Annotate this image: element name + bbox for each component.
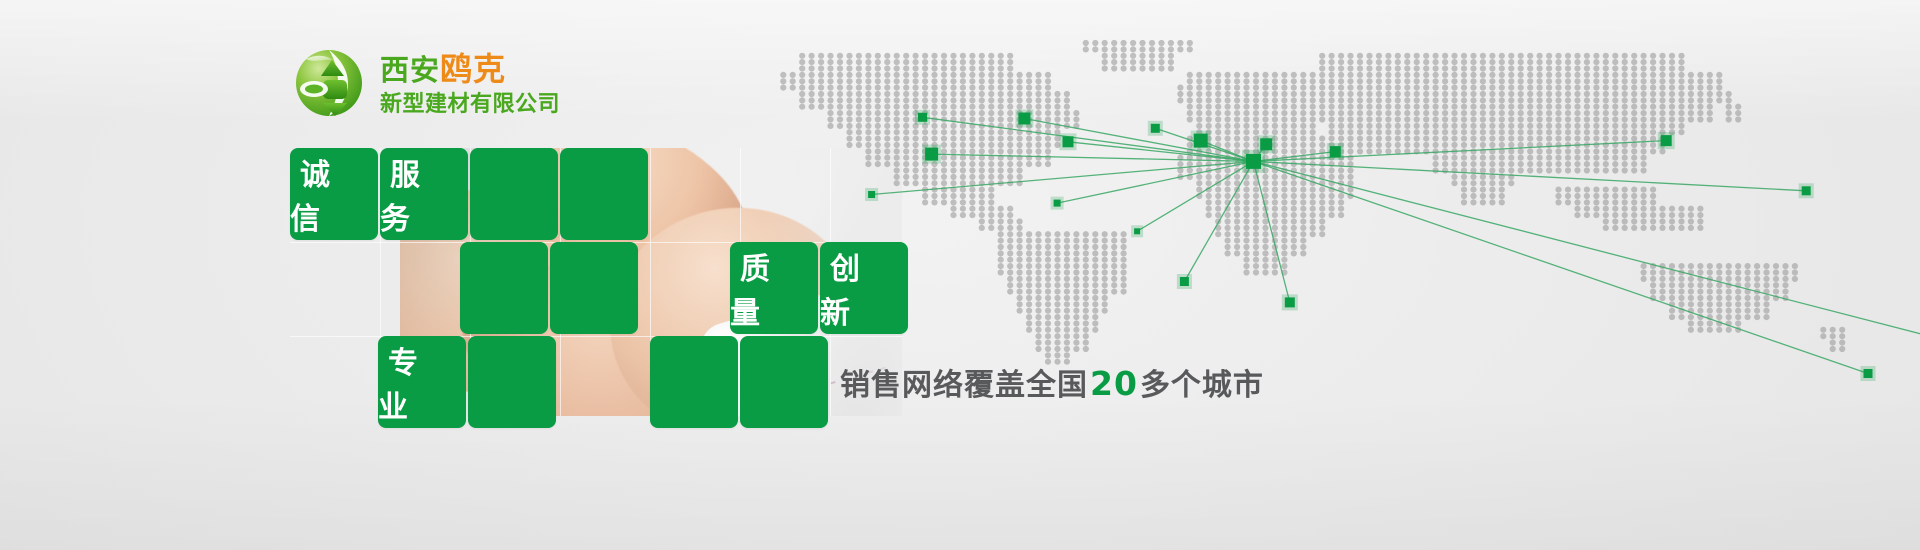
- world-map-dots: [780, 40, 1845, 365]
- tile-chengxin[interactable]: 诚信: [290, 148, 378, 240]
- company-name-brand: 鸥克: [440, 50, 506, 88]
- tile-zhuanye[interactable]: 专业: [378, 336, 466, 428]
- tagline-text-before: 销售网络覆盖全国: [840, 368, 1088, 403]
- tile-blank-3[interactable]: [460, 242, 548, 334]
- company-name-city: 西安: [380, 53, 440, 87]
- dotted-world-map: [728, 18, 1920, 398]
- tile-fuwu[interactable]: 服务: [380, 148, 468, 240]
- company-name-line-1: 西安鸥克: [380, 53, 560, 85]
- company-logo[interactable]: 西安鸥克 新型建材有限公司: [292, 46, 560, 120]
- promo-banner: 西安鸥克 新型建材有限公司 诚信服务质量创新专业 销售网络覆盖全国20多个城市: [0, 0, 1920, 550]
- tile-blank-1[interactable]: [470, 148, 558, 240]
- network-city-nodes: [865, 110, 1920, 382]
- sales-network-tagline: 销售网络覆盖全国20多个城市: [840, 360, 1264, 404]
- company-globe-leaf-logo-icon: [292, 46, 366, 120]
- tile-blank-5[interactable]: [468, 336, 556, 428]
- tile-blank-4[interactable]: [550, 242, 638, 334]
- company-logo-text: 西安鸥克 新型建材有限公司: [380, 51, 560, 116]
- network-hub-node: [1246, 154, 1261, 169]
- tile-blank-2[interactable]: [560, 148, 648, 240]
- tagline-highlight-number: 20: [1088, 364, 1140, 403]
- tagline-text-after: 多个城市: [1140, 368, 1264, 403]
- company-name-line-2: 新型建材有限公司: [380, 94, 560, 116]
- tile-blank-7[interactable]: [650, 336, 738, 428]
